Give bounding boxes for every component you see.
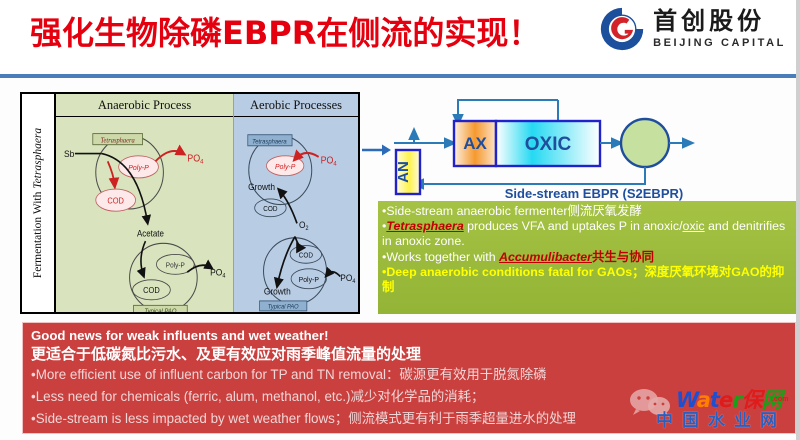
green-b2-text: produces VFA and uptakes P in anoxic/ [464,219,683,233]
svg-text:Tetrasphaera: Tetrasphaera [101,137,136,144]
anaerobic-panel-body: Tetrasphaera Poly-P COD Sb PO4 Acetate [56,117,233,312]
svg-text:PO4: PO4 [187,153,204,166]
svg-text:Tetrasphaera: Tetrasphaera [252,138,287,145]
reactor-ax-label: AX [463,134,487,153]
svg-text:Poly-P: Poly-P [166,262,185,269]
green-bullet-1: •Side-stream anaerobic fermenter侧流厌氧发酵 [382,204,792,219]
vertical-label-prefix: Fermentation With [32,189,44,278]
green-b1-cn: 侧流厌氧发酵 [567,204,641,218]
company-logo: 首创股份 BEIJING CAPITAL [599,6,786,52]
svg-text:Growth: Growth [264,286,291,297]
red-bullet-3: •Side-stream is less impacted by wet wea… [31,408,787,430]
svg-text:Sb: Sb [64,148,74,159]
red-bullet-2: •Less need for chemicals (ferric, alum, … [31,386,787,408]
red-summary-box: Good news for weak influents and wet wea… [22,322,796,434]
svg-text:COD: COD [263,206,277,213]
process-flow-diagram: AX OXIC AN [392,88,796,198]
slide-header: 强化生物除磷EBPR在侧流的实现！ 首创股份 BEIJING CAPITAL [0,0,796,77]
green-b2-oxic: oxic [683,219,705,233]
page-title: 强化生物除磷EBPR在侧流的实现！ [30,8,540,54]
reactor-an-label: AN [395,161,412,183]
green-bullet-2: •Tetrasphaera produces VFA and uptakes P… [382,219,792,249]
logo-english-name: BEIJING CAPITAL [653,37,786,49]
fermentation-diagram: Fermentation With Tetrasphaera Anaerobic… [20,92,360,314]
green-bullet-3: •Works together with Accumulibacter共生与协同 [382,250,792,265]
svg-text:O2: O2 [299,219,309,232]
svg-text:Typical PAO: Typical PAO [268,304,299,310]
aerobic-panel-body: Tetrasphaera Poly-P PO4 Growth COD O2 [234,117,358,312]
anaerobic-panel-heading: Anaerobic Process [56,94,233,117]
svg-text:COD: COD [299,252,313,259]
aerobic-process-panel: Aerobic Processes [234,94,358,312]
header-divider [0,74,796,78]
svg-text:PO4: PO4 [321,154,338,168]
green-b3-cn: 共生与协同 [592,250,654,264]
svg-text:PO4: PO4 [340,273,356,286]
vertical-label-organism: Tetrasphaera [32,128,44,189]
green-b3-lead: •Works together with [382,250,499,264]
aerobic-panel-heading: Aerobic Processes [234,94,358,117]
red-box-heading-en: Good news for weak influents and wet wea… [31,327,787,344]
svg-text:Acetate: Acetate [137,228,164,239]
logo-chinese-name: 首创股份 [653,9,786,34]
green-bullet-4: •Deep anaerobic conditions fatal for GAO… [382,265,792,295]
anaerobic-process-panel: Anaerobic Process [56,94,234,312]
svg-text:PO4: PO4 [210,267,226,280]
beijing-capital-logo-icon [599,6,645,52]
svg-text:Poly-P: Poly-P [128,163,149,172]
svg-text:COD: COD [143,286,160,295]
green-b1-en: •Side-stream anaerobic fermenter [382,204,567,218]
svg-text:Poly-P: Poly-P [299,275,319,285]
reactor-oxic-label: OXIC [525,134,572,155]
diagram-vertical-axis-label: Fermentation With Tetrasphaera [22,94,56,312]
svg-text:Growth: Growth [248,182,275,193]
svg-text:COD: COD [107,196,124,205]
svg-text:Poly-P: Poly-P [275,162,295,172]
right-arrow-icon [362,143,392,157]
svg-text:Typical PAO: Typical PAO [144,308,176,312]
slide-canvas: 强化生物除磷EBPR在侧流的实现！ 首创股份 BEIJING CAPITAL F… [0,0,800,440]
red-box-heading-cn: 更适合于低碳氮比污水、及更有效应对雨季峰值流量的处理 [31,344,787,364]
green-b2-organism: Tetrasphaera [386,219,463,233]
green-summary-box: •Side-stream anaerobic fermenter侧流厌氧发酵 •… [378,201,796,314]
red-bullet-1: •More efficient use of influent carbon f… [31,364,787,386]
green-b3-organism: Accumulibacter [499,250,592,264]
process-flow-caption: Side-stream EBPR (S2EBPR) [392,186,796,201]
